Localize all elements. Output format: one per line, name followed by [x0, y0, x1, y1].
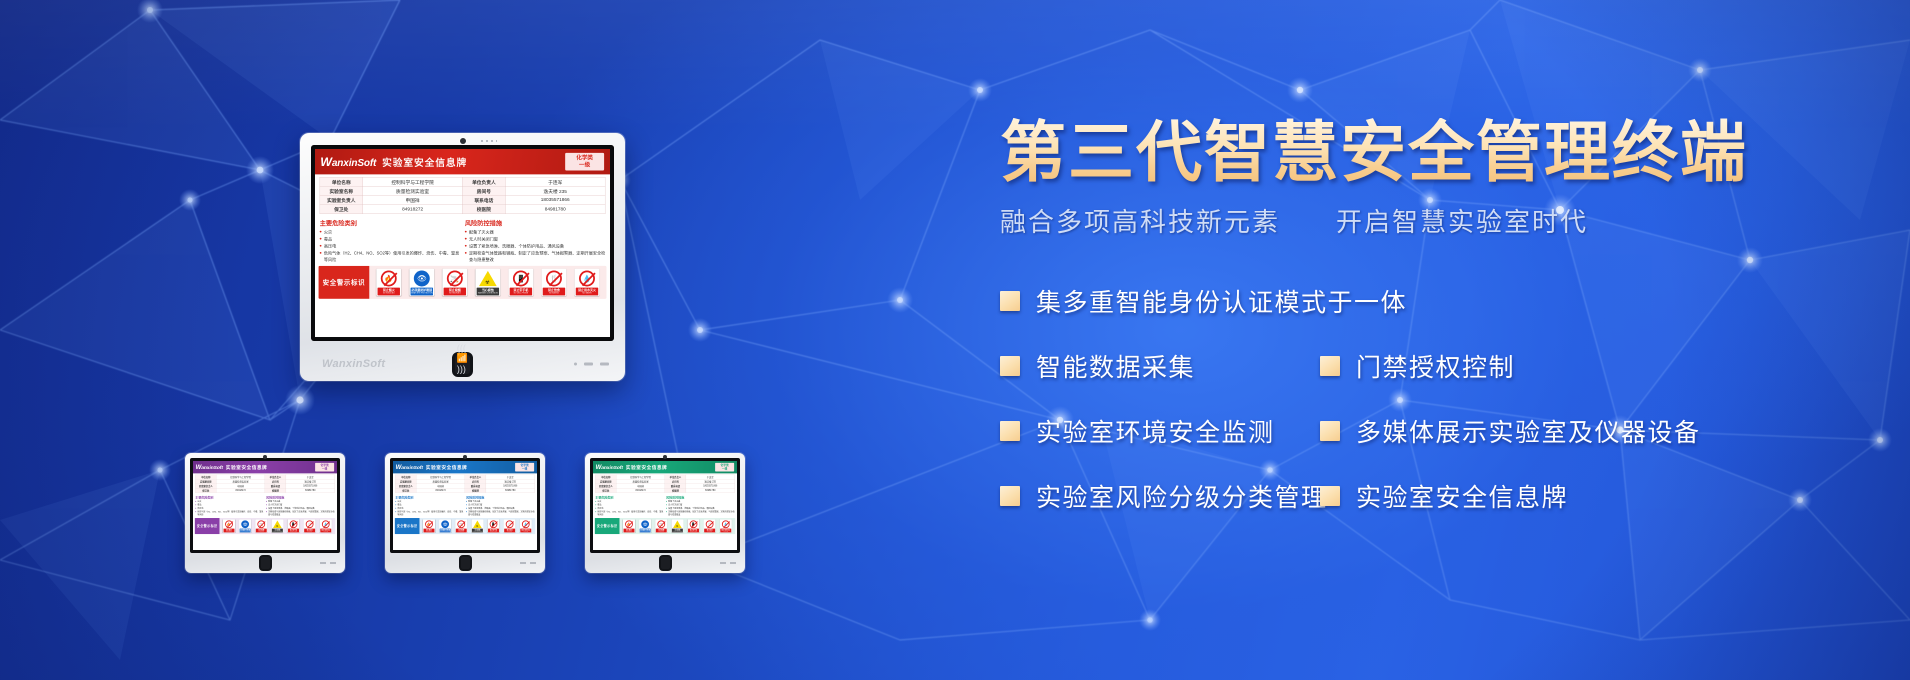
feature-label: 门禁授权控制: [1356, 348, 1515, 384]
list-item: 火灾: [320, 229, 460, 235]
info-key: 校医院: [462, 205, 505, 214]
no-mobile-phone-icon: 📱: [513, 271, 529, 287]
status-led-icon: [574, 363, 577, 366]
sign-caption: 禁止吸烟 NO SMOKING: [444, 288, 466, 296]
list-item: 配备了灭火器: [465, 229, 605, 235]
hazard-column: 主要危险类别 火灾毒品高压电危险气体（H2、CH4、NO、SO2等）使用引发的爆…: [320, 217, 460, 264]
front-camera-icon: [663, 455, 667, 459]
list-item: 定期检查气体管路和钢瓶、制定了应急预案、气体报警器、定期开展安全检查与隐患整改: [465, 250, 605, 262]
feature-row: 集多重智能身份认证模式于一体: [1000, 283, 1880, 319]
sign-caption: 禁止烟火 NO KINDLING: [224, 529, 235, 533]
main-tablet-screen-frame: WanxinSoft 实验室安全信息牌 化学类 一级 单位名称 控制科学与工程学…: [311, 145, 614, 341]
sign-caption-en: WEAR EYE PROTECTION: [440, 531, 450, 532]
info-key: 校医院: [665, 488, 686, 492]
sign-caption: 禁止饮食 NO EATING: [543, 288, 565, 296]
board-title: 实验室安全信息牌: [426, 464, 467, 471]
feature-item: 实验室安全信息牌: [1320, 478, 1568, 514]
safety-sign: 📱 禁止带手机 NO CELL PHONE: [509, 269, 534, 296]
mini-tablet-screen: WanxinSoft 实验室安全信息牌 化学类 一级 单位名称 控制科学与工程学…: [593, 461, 737, 550]
front-camera-icon: [463, 455, 467, 459]
banner-root: 第三代智慧安全管理终端 融合多项高科技新元素 开启智慧实验室时代 集多重智能身份…: [0, 0, 1910, 680]
sign-caption-en: NO EATING: [507, 531, 512, 532]
sign-caption: 当心腐蚀 WARNING CORROSION: [477, 288, 499, 296]
safety-signs-row: 🔥 禁止烟火 NO KINDLING 👁 必须戴防护眼镜 WEAR EYE PR…: [619, 518, 735, 534]
badge-level: 一级: [322, 467, 327, 470]
safety-sign: 当心腐蚀 WARNING CORROSION: [671, 519, 683, 532]
page-title: 第三代智慧安全管理终端: [1000, 118, 1880, 188]
info-value: 质量检测实验室: [363, 186, 463, 195]
sign-caption-en: WEAR EYE PROTECTION: [411, 292, 432, 294]
control-heading: 风险防控措施: [666, 495, 735, 499]
sign-glyph: 🔥: [225, 520, 233, 528]
wanxinsoft-logo: WanxinSoft: [596, 464, 623, 471]
info-value: 84981780: [505, 205, 605, 214]
list-item: 定期检查气体管路和钢瓶、制定了应急预案、气体报警器、定期开展安全检查与隐患整改: [266, 510, 335, 516]
sign-glyph: 👁: [241, 520, 249, 528]
table-row: 保卫处 84918272 校医院 84981780: [395, 488, 534, 492]
hazard-heading: 主要危险类别: [595, 495, 664, 499]
wear-eye-protection-icon: 👁: [414, 271, 430, 287]
sign-caption-en: NO KINDLING: [226, 531, 232, 532]
control-heading: 风险防控措施: [466, 495, 535, 499]
sign-glyph: 📱: [513, 270, 530, 287]
sign-glyph: [673, 520, 681, 528]
info-value: 84981780: [686, 488, 735, 492]
control-column: 风险防控措施 配备了灭火器无人时关闭门窗设置了紧急喷淋、洗眼器、个体防护用品、通…: [465, 217, 605, 264]
info-key: 保卫处: [320, 205, 363, 214]
sign-caption-en: NO WATER: [582, 292, 591, 294]
feature-row: 实验室环境安全监测 多媒体展示实验室及仪器设备: [1000, 413, 1880, 449]
badge-category: 化学类: [576, 155, 593, 162]
no-mobile-phone-icon: 📱: [290, 520, 298, 528]
bezel-indicator-dots: [320, 562, 336, 564]
no-smoking-icon: 🚬: [257, 520, 265, 528]
mini-screen-frame: WanxinSoft 实验室安全信息牌 化学类 一级 单位名称 控制科学与工程学…: [590, 458, 740, 553]
sign-glyph: 🍴: [506, 520, 514, 528]
list-item: 设置了紧急喷淋、洗眼器、个体防护用品、通风设备: [465, 243, 605, 249]
sign-caption: 必须戴防护眼镜 WEAR EYE PROTECTION: [640, 529, 651, 533]
info-value: 84981780: [486, 488, 535, 492]
feature-item: 智能数据采集: [1000, 348, 1320, 384]
table-row: 单位名称 控制科学与工程学院 单位负责人 于连军: [320, 177, 605, 186]
sign-caption: 当心腐蚀 WARNING CORROSION: [672, 529, 683, 533]
sign-glyph: 🍴: [546, 270, 563, 287]
corrosion-warning-icon: [473, 520, 482, 527]
no-water-icon: 💧: [522, 520, 530, 528]
safety-sign: 👁 必须戴防护眼镜 WEAR EYE PROTECTION: [239, 519, 251, 532]
no-water-icon: 💧: [579, 271, 595, 287]
safety-signs-label: 安全警示标识: [595, 518, 620, 534]
feature-row: 实验室风险分级分类管理 实验室安全信息牌: [1000, 478, 1880, 514]
risk-level-badge: 化学类 一级: [515, 463, 534, 472]
bezel-indicator-dots: [520, 562, 536, 564]
list-item: 毒品: [320, 236, 460, 242]
sign-glyph: 📱: [689, 520, 697, 528]
sign-caption-en: WARNING CORROSION: [478, 292, 498, 294]
control-heading: 风险防控措施: [266, 495, 335, 499]
info-key: 联系电话: [462, 195, 505, 204]
safety-sign: 🔥 禁止烟火 NO KINDLING: [223, 519, 235, 532]
info-key: 保卫处: [595, 488, 616, 492]
safety-signs-label: 安全警示标识: [319, 266, 370, 299]
lab-info-table: 单位名称 控制科学与工程学院 单位负责人 于连军 实验室名称 质量检测实验室 房…: [595, 475, 734, 493]
feature-item: 门禁授权控制: [1320, 348, 1515, 384]
sign-caption: 禁止用水灭火 NO WATER: [576, 288, 598, 296]
safety-sign: 👁 必须戴防护眼镜 WEAR EYE PROTECTION: [639, 519, 651, 532]
sign-caption-en: NO KINDLING: [626, 531, 632, 532]
list-item: 危险气体（H2、CH4、NO、SO2等）使用引发的爆炸、烧伤、中毒、窒息等风险: [320, 250, 460, 262]
safety-sign: 📱 禁止带手机 NO CELL PHONE: [487, 519, 499, 532]
info-value: 84918272: [216, 488, 265, 492]
feature-item: 多媒体展示实验室及仪器设备: [1320, 413, 1701, 449]
info-key: 校医院: [265, 488, 286, 492]
safety-sign: 💧 禁止用水灭火 NO WATER: [720, 519, 732, 532]
sign-glyph: 🍴: [306, 520, 314, 528]
sign-glyph: 📱: [289, 520, 297, 528]
sign-glyph: 🚬: [457, 520, 465, 528]
lab-info-table: 单位名称 控制科学与工程学院 单位负责人 于连军 实验室名称 质量检测实验室 房…: [195, 475, 334, 493]
safety-signs-footer: 安全警示标识 🔥 禁止烟火 NO KINDLING 👁 必须戴防护眼镜 WEAR…: [595, 518, 736, 534]
sign-glyph: 💧: [522, 520, 530, 528]
feature-label: 实验室环境安全监测: [1036, 413, 1275, 449]
safety-sign: 📱 禁止带手机 NO CELL PHONE: [687, 519, 699, 532]
square-bullet-icon: [1000, 356, 1020, 376]
mini-screen-frame: WanxinSoft 实验室安全信息牌 化学类 一级 单位名称 控制科学与工程学…: [390, 458, 540, 553]
table-row: 实验室负责人 申国祥 联系电话 18035571866: [320, 195, 605, 204]
sign-caption: 禁止带手机 NO CELL PHONE: [288, 529, 299, 533]
info-value: 84981780: [286, 488, 335, 492]
mini-tablet-screen: WanxinSoft 实验室安全信息牌 化学类 一级 单位名称 控制科学与工程学…: [193, 461, 337, 550]
no-smoking-icon: 🚬: [657, 520, 665, 528]
hazard-heading: 主要危险类别: [395, 495, 464, 499]
list-item: 定期检查气体管路和钢瓶、制定了应急预案、气体报警器、定期开展安全检查与隐患整改: [666, 510, 735, 516]
main-tablet-bottom-bezel: WanxinSoft ((( 📶 ))): [300, 347, 625, 381]
safety-sign: 🍴 禁止饮食 NO EATING: [704, 519, 716, 532]
no-water-icon: 💧: [322, 520, 330, 528]
sign-glyph: 💧: [579, 270, 596, 287]
control-column: 风险防控措施 配备了灭火器无人时关闭门窗设置了紧急喷淋、洗眼器、个体防护用品、通…: [266, 494, 335, 517]
sign-caption: 禁止饮食 NO EATING: [304, 529, 315, 533]
no-food-drink-icon: 🍴: [706, 520, 714, 528]
info-value: 18035571866: [505, 195, 605, 204]
sign-glyph: [480, 270, 497, 287]
sign-glyph: 🔥: [380, 270, 397, 287]
table-row: 保卫处 84918272 校医院 84981780: [195, 488, 334, 492]
info-key: 保卫处: [395, 488, 416, 492]
mini-bottom-bezel: [385, 552, 545, 573]
sign-caption: 必须戴防护眼镜 WEAR EYE PROTECTION: [440, 529, 451, 533]
sign-glyph: 👁: [641, 520, 649, 528]
safety-sign: 当心腐蚀 WARNING CORROSION: [471, 519, 483, 532]
board-columns: 主要危险类别 火灾毒品高压电危险气体（H2、CH4、NO、SO2等）使用引发的爆…: [393, 494, 537, 517]
board-title: 实验室安全信息牌: [226, 464, 267, 471]
main-tablet-device: WanxinSoft 实验室安全信息牌 化学类 一级 单位名称 控制科学与工程学…: [300, 133, 625, 381]
safety-sign: 💧 禁止用水灭火 NO WATER: [520, 519, 532, 532]
list-item: 危险气体（H2、CH4、NO、SO2等）使用引发的爆炸、烧伤、中毒、窒息等风险: [195, 510, 264, 516]
sign-glyph: 🍴: [706, 520, 714, 528]
square-bullet-icon: [1000, 486, 1020, 506]
control-list: 配备了灭火器无人时关闭门窗设置了紧急喷淋、洗眼器、个体防护用品、通风设备定期检查…: [466, 500, 535, 516]
square-bullet-icon: [1000, 421, 1020, 441]
lab-info-table-wrap: 单位名称 控制科学与工程学院 单位负责人 于连军 实验室名称 质量检测实验室 房…: [393, 473, 537, 493]
sign-caption-en: NO SMOKING: [458, 531, 464, 532]
safety-sign: 当心腐蚀 WARNING CORROSION: [475, 269, 500, 296]
control-list: 配备了灭火器无人时关闭门窗设置了紧急喷淋、洗眼器、个体防护用品、通风设备定期检查…: [465, 229, 605, 263]
risk-level-badge: 化学类 一级: [315, 463, 334, 472]
board-title: 实验室安全信息牌: [382, 155, 467, 169]
hazard-list: 火灾毒品高压电危险气体（H2、CH4、NO、SO2等）使用引发的爆炸、烧伤、中毒…: [595, 500, 664, 516]
sign-glyph: 👁: [441, 520, 449, 528]
no-open-flame-icon: 🔥: [381, 271, 397, 287]
badge-level: 一级: [522, 467, 527, 470]
sign-caption: 禁止吸烟 NO SMOKING: [656, 529, 667, 533]
mini-tablet-purple: WanxinSoft 实验室安全信息牌 化学类 一级 单位名称 控制科学与工程学…: [185, 453, 345, 573]
no-smoking-icon: 🚬: [457, 520, 465, 528]
safety-signs-row: 🔥 禁止烟火 NO KINDLING 👁 必须戴防护眼镜 WEAR EYE PR…: [369, 266, 606, 299]
mini-tablet-screen: WanxinSoft 实验室安全信息牌 化学类 一级 单位名称 控制科学与工程学…: [393, 461, 537, 550]
list-item: 无人时关闭门窗: [465, 236, 605, 242]
badge-level: 一级: [579, 162, 590, 169]
sign-caption-en: NO SMOKING: [258, 531, 264, 532]
table-row: 实验室名称 质量检测实验室 房间号 逸夫楼 235: [320, 186, 605, 195]
list-item: 危险气体（H2、CH4、NO、SO2等）使用引发的爆炸、烧伤、中毒、窒息等风险: [395, 510, 464, 516]
hazard-list: 火灾毒品高压电危险气体（H2、CH4、NO、SO2等）使用引发的爆炸、烧伤、中毒…: [195, 500, 264, 516]
hero-copy: 第三代智慧安全管理终端 融合多项高科技新元素 开启智慧实验室时代 集多重智能身份…: [1000, 118, 1880, 543]
feature-label: 实验室安全信息牌: [1356, 478, 1568, 514]
feature-label: 实验室风险分级分类管理: [1036, 478, 1328, 514]
sign-caption: 必须戴防护眼镜 WEAR EYE PROTECTION: [411, 288, 433, 296]
no-open-flame-icon: 🔥: [225, 520, 233, 528]
list-item: 危险气体（H2、CH4、NO、SO2等）使用引发的爆炸、烧伤、中毒、窒息等风险: [595, 510, 664, 516]
sign-caption-en: NO EATING: [549, 292, 559, 294]
sign-glyph: 🚬: [257, 520, 265, 528]
board-header: WanxinSoft 实验室安全信息牌 化学类 一级: [393, 461, 537, 473]
sign-glyph: [473, 520, 481, 528]
no-smoking-icon: 🚬: [447, 271, 463, 287]
safety-signs-footer: 安全警示标识 🔥 禁止烟火 NO KINDLING 👁 必须戴防护眼镜 WEAR…: [319, 266, 607, 299]
corrosion-warning-icon: [273, 520, 282, 527]
sign-caption-en: NO CELL PHONE: [290, 531, 297, 532]
safety-sign: 🍴 禁止饮食 NO EATING: [542, 269, 567, 296]
bezel-indicator-dots: [720, 562, 736, 564]
sign-glyph: 🚬: [657, 520, 665, 528]
front-camera-icon: [263, 455, 267, 459]
table-row: 保卫处 84918272 校医院 84981780: [595, 488, 734, 492]
square-bullet-icon: [1000, 291, 1020, 311]
nfc-wave-icon: ((( 📶 ))): [457, 343, 468, 374]
control-list: 配备了灭火器无人时关闭门窗设置了紧急喷淋、洗眼器、个体防护用品、通风设备定期检查…: [666, 500, 735, 516]
info-value: 于连军: [505, 177, 605, 186]
info-key: 单位名称: [320, 177, 363, 186]
safety-sign: 🚬 禁止吸烟 NO SMOKING: [455, 519, 467, 532]
sign-glyph: [273, 520, 281, 528]
safety-signs-row: 🔥 禁止烟火 NO KINDLING 👁 必须戴防护眼镜 WEAR EYE PR…: [219, 518, 335, 534]
lab-info-table-wrap: 单位名称 控制科学与工程学院 单位负责人 于连军 实验室名称 质量检测实验室 房…: [593, 473, 737, 493]
sign-caption-en: NO WATER: [323, 531, 328, 532]
no-food-drink-icon: 🍴: [306, 520, 314, 528]
info-value: 84918272: [363, 205, 463, 214]
safety-signs-footer: 安全警示标识 🔥 禁止烟火 NO KINDLING 👁 必须戴防护眼镜 WEAR…: [395, 518, 536, 534]
feature-list: 集多重智能身份认证模式于一体 智能数据采集 门禁授权控制 实验室环境安全监测: [1000, 283, 1880, 514]
hazard-column: 主要危险类别 火灾毒品高压电危险气体（H2、CH4、NO、SO2等）使用引发的爆…: [195, 494, 264, 517]
sign-caption: 禁止饮食 NO EATING: [504, 529, 515, 533]
corrosion-warning-icon: [673, 520, 682, 527]
mini-bottom-bezel: [585, 552, 745, 573]
wear-eye-protection-icon: 👁: [441, 520, 449, 528]
sign-caption: 必须戴防护眼镜 WEAR EYE PROTECTION: [240, 529, 251, 533]
board-header: WanxinSoft 实验室安全信息牌 化学类 一级: [193, 461, 337, 473]
list-item: 高压电: [320, 243, 460, 249]
safety-sign: 🚬 禁止吸烟 NO SMOKING: [255, 519, 267, 532]
safety-sign: 🔥 禁止烟火 NO KINDLING: [376, 269, 401, 296]
sign-caption: 禁止烟火 NO KINDLING: [624, 529, 635, 533]
no-food-drink-icon: 🍴: [546, 271, 562, 287]
lab-info-table-wrap: 单位名称 控制科学与工程学院 单位负责人 于连军 实验室名称 质量检测实验室 房…: [315, 174, 610, 215]
sign-caption: 禁止吸烟 NO SMOKING: [256, 529, 267, 533]
info-key: 房间号: [462, 186, 505, 195]
corrosion-warning-icon: [479, 271, 497, 286]
control-column: 风险防控措施 配备了灭火器无人时关闭门窗设置了紧急喷淋、洗眼器、个体防护用品、通…: [666, 494, 735, 517]
badge-level: 一级: [722, 467, 727, 470]
info-value: 控制科学与工程学院: [363, 177, 463, 186]
info-key: 单位负责人: [462, 177, 505, 186]
sign-glyph: 👁: [414, 270, 431, 287]
hazard-list: 火灾毒品高压电危险气体（H2、CH4、NO、SO2等）使用引发的爆炸、烧伤、中毒…: [320, 229, 460, 263]
sign-caption: 禁止用水灭火 NO WATER: [720, 529, 731, 533]
page-subtitle: 融合多项高科技新元素 开启智慧实验室时代: [1000, 202, 1880, 239]
sign-caption-en: NO SMOKING: [449, 292, 461, 294]
sign-glyph: 🔥: [625, 520, 633, 528]
home-button[interactable]: [259, 555, 272, 571]
wanxinsoft-logo: WanxinSoft: [196, 464, 223, 471]
sign-caption: 禁止带手机 NO CELL PHONE: [488, 529, 499, 533]
sign-caption-en: WEAR EYE PROTECTION: [640, 531, 650, 532]
board-columns: 主要危险类别 火灾毒品高压电危险气体（H2、CH4、NO、SO2等）使用引发的爆…: [193, 494, 337, 517]
info-key: 实验室负责人: [320, 195, 363, 204]
bezel-brand-logo: WanxinSoft: [322, 358, 385, 370]
sign-glyph: 📱: [489, 520, 497, 528]
sign-caption-en: NO WATER: [523, 531, 528, 532]
square-bullet-icon: [1320, 356, 1340, 376]
no-food-drink-icon: 🍴: [506, 520, 514, 528]
sign-caption-en: NO CELL PHONE: [490, 531, 497, 532]
sign-caption-en: WEAR EYE PROTECTION: [240, 531, 250, 532]
safety-sign: 🍴 禁止饮食 NO EATING: [504, 519, 516, 532]
wanxinsoft-logo: WanxinSoft: [320, 155, 376, 169]
list-item: 定期检查气体管路和钢瓶、制定了应急预案、气体报警器、定期开展安全检查与隐患整改: [466, 510, 535, 516]
home-button[interactable]: [459, 555, 472, 571]
front-camera-icon: [460, 138, 466, 144]
wear-eye-protection-icon: 👁: [641, 520, 649, 528]
square-bullet-icon: [1320, 421, 1340, 441]
sign-caption: 禁止吸烟 NO SMOKING: [456, 529, 467, 533]
safety-sign: 🍴 禁止饮食 NO EATING: [304, 519, 316, 532]
sign-caption: 禁止带手机 NO CELL PHONE: [510, 288, 532, 296]
feature-item: 实验室风险分级分类管理: [1000, 478, 1320, 514]
square-bullet-icon: [1320, 486, 1340, 506]
sign-caption-en: WARNING CORROSION: [273, 531, 283, 532]
mini-tablet-green: WanxinSoft 实验室安全信息牌 化学类 一级 单位名称 控制科学与工程学…: [585, 453, 745, 573]
main-tablet-screen: WanxinSoft 实验室安全信息牌 化学类 一级 单位名称 控制科学与工程学…: [315, 149, 610, 337]
table-row: 保卫处 84918272 校医院 84981780: [320, 205, 605, 214]
speaker-grille-icon: [481, 140, 497, 142]
bezel-indicator-dots: [574, 363, 609, 366]
sign-caption-en: NO KINDLING: [426, 531, 432, 532]
no-mobile-phone-icon: 📱: [490, 520, 498, 528]
info-key: 实验室名称: [320, 186, 363, 195]
safety-signs-label: 安全警示标识: [395, 518, 420, 534]
safety-signs-label: 安全警示标识: [195, 518, 220, 534]
sign-caption-en: NO EATING: [707, 531, 712, 532]
control-list: 配备了灭火器无人时关闭门窗设置了紧急喷淋、洗眼器、个体防护用品、通风设备定期检查…: [266, 500, 335, 516]
safety-sign: 📱 禁止带手机 NO CELL PHONE: [287, 519, 299, 532]
sign-glyph: 💧: [322, 520, 330, 528]
control-column: 风险防控措施 配备了灭火器无人时关闭门窗设置了紧急喷淋、洗眼器、个体防护用品、通…: [466, 494, 535, 517]
safety-signs-row: 🔥 禁止烟火 NO KINDLING 👁 必须戴防护眼镜 WEAR EYE PR…: [419, 518, 535, 534]
wear-eye-protection-icon: 👁: [241, 520, 249, 528]
board-header: WanxinSoft 实验室安全信息牌 化学类 一级: [315, 149, 610, 174]
lab-info-table-wrap: 单位名称 控制科学与工程学院 单位负责人 于连军 实验室名称 质量检测实验室 房…: [193, 473, 337, 493]
mini-bottom-bezel: [185, 552, 345, 573]
port-slot-icon: [584, 363, 593, 366]
hazard-column: 主要危险类别 火灾毒品高压电危险气体（H2、CH4、NO、SO2等）使用引发的爆…: [595, 494, 664, 517]
sign-caption-en: NO CELL PHONE: [690, 531, 697, 532]
hazard-column: 主要危险类别 火灾毒品高压电危险气体（H2、CH4、NO、SO2等）使用引发的爆…: [395, 494, 464, 517]
safety-sign: 👁 必须戴防护眼镜 WEAR EYE PROTECTION: [439, 519, 451, 532]
feature-label: 集多重智能身份认证模式于一体: [1036, 283, 1407, 319]
feature-item: 集多重智能身份认证模式于一体: [1000, 283, 1320, 319]
control-heading: 风险防控措施: [465, 219, 605, 228]
sign-caption-en: NO EATING: [307, 531, 312, 532]
mini-tablet-blue: WanxinSoft 实验室安全信息牌 化学类 一级 单位名称 控制科学与工程学…: [385, 453, 545, 573]
sign-caption: 禁止用水灭火 NO WATER: [320, 529, 331, 533]
home-button[interactable]: [659, 555, 672, 571]
info-value: 申国祥: [363, 195, 463, 204]
sign-caption-en: NO WATER: [723, 531, 728, 532]
sign-caption-en: NO KINDLING: [383, 292, 395, 294]
sign-caption: 禁止饮食 NO EATING: [704, 529, 715, 533]
info-key: 校医院: [465, 488, 486, 492]
lab-info-table: 单位名称 控制科学与工程学院 单位负责人 于连军 实验室名称 质量检测实验室 房…: [395, 475, 534, 493]
sign-caption: 禁止烟火 NO KINDLING: [424, 529, 435, 533]
feature-label: 智能数据采集: [1036, 348, 1195, 384]
sign-caption: 当心腐蚀 WARNING CORROSION: [272, 529, 283, 533]
info-value: 84918272: [416, 488, 465, 492]
wanxinsoft-logo: WanxinSoft: [396, 464, 423, 471]
sign-caption-en: WARNING CORROSION: [673, 531, 683, 532]
feature-row: 智能数据采集 门禁授权控制: [1000, 348, 1880, 384]
safety-sign: 🚬 禁止吸烟 NO SMOKING: [442, 269, 467, 296]
safety-sign: 🚬 禁止吸烟 NO SMOKING: [655, 519, 667, 532]
risk-level-badge: 化学类 一级: [715, 463, 734, 472]
sign-glyph: 🔥: [425, 520, 433, 528]
board-header: WanxinSoft 实验室安全信息牌 化学类 一级: [593, 461, 737, 473]
sign-caption-en: NO SMOKING: [658, 531, 664, 532]
hazard-heading: 主要危险类别: [195, 495, 264, 499]
feature-label: 多媒体展示实验室及仪器设备: [1356, 413, 1701, 449]
safety-sign: 🔥 禁止烟火 NO KINDLING: [623, 519, 635, 532]
port-slot-icon: [600, 363, 609, 366]
sign-caption: 禁止带手机 NO CELL PHONE: [688, 529, 699, 533]
hazard-list: 火灾毒品高压电危险气体（H2、CH4、NO、SO2等）使用引发的爆炸、烧伤、中毒…: [395, 500, 464, 516]
safety-signs-footer: 安全警示标识 🔥 禁止烟火 NO KINDLING 👁 必须戴防护眼镜 WEAR…: [195, 518, 336, 534]
sign-caption: 禁止烟火 NO KINDLING: [378, 288, 400, 296]
no-mobile-phone-icon: 📱: [690, 520, 698, 528]
sign-caption-en: WARNING CORROSION: [473, 531, 483, 532]
sign-caption: 禁止用水灭火 NO WATER: [520, 529, 531, 533]
safety-sign: 💧 禁止用水灭火 NO WATER: [320, 519, 332, 532]
info-value: 84918272: [616, 488, 665, 492]
